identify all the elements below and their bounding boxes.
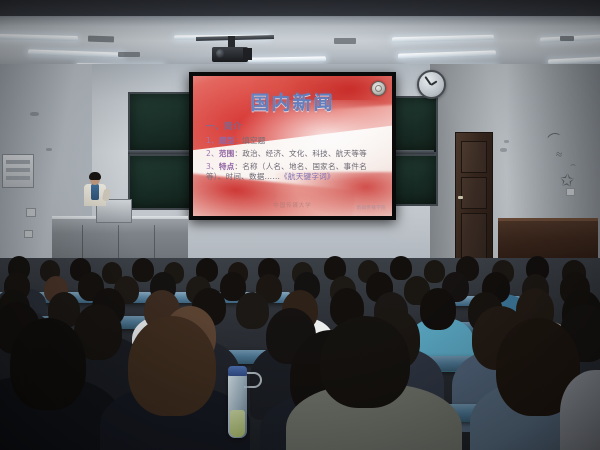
- ceiling-light-tube: [0, 34, 78, 41]
- wall-socket[interactable]: [26, 208, 36, 217]
- slide-content: 国内新闻 一、简介 1、题型：填空题 2、范围：政治、经济、文化、科技、航天等等…: [193, 76, 392, 216]
- ceiling-light-tube: [28, 49, 124, 57]
- screen-sheen: [193, 76, 392, 216]
- ceiling-vent: [118, 52, 140, 57]
- audience-head: [10, 318, 86, 410]
- ceiling-vent: [88, 36, 114, 43]
- side-door[interactable]: [455, 132, 493, 266]
- audience-head: [320, 316, 410, 408]
- wall-scuff: [30, 112, 39, 116]
- audience-head: [128, 316, 216, 416]
- wall-socket[interactable]: [24, 230, 33, 238]
- ceiling-light-tube: [398, 50, 496, 58]
- presenter-hair: [89, 172, 101, 180]
- bottle-liquid: [230, 410, 245, 437]
- ceiling-upper-shadow: [0, 0, 600, 16]
- projector-mount-arm: [196, 35, 274, 41]
- audience-head: [420, 288, 456, 330]
- electrical-distribution-panel: [2, 154, 34, 188]
- projector-lens-icon: [216, 49, 225, 58]
- bottle-cap: [228, 366, 247, 376]
- wall-graffiti: ✩: [559, 171, 575, 189]
- door-panel: [461, 177, 487, 209]
- door-panel: [461, 213, 487, 259]
- wall-clock: [417, 70, 446, 99]
- wall-scuff: [46, 148, 52, 151]
- presenter-scarf: [91, 184, 99, 200]
- ceiling-light-tube: [392, 35, 494, 43]
- ceiling-vent: [560, 36, 574, 41]
- lecture-hall-scene: ⌒ ≈ ✩ ⌢ 国内新闻 一、简介 1、题型：填空题 2、范围：政治、经济、文: [0, 0, 600, 450]
- wall-graffiti: ⌢: [570, 160, 576, 169]
- clock-hour-hand: [430, 80, 437, 85]
- wall-scuff: [504, 140, 509, 143]
- door-panel: [461, 141, 487, 173]
- audience-head: [236, 292, 269, 329]
- ceiling-vent: [334, 38, 356, 44]
- wall-graffiti: ⌒: [547, 132, 563, 148]
- audience-head: [390, 256, 412, 280]
- door-knob[interactable]: [458, 196, 463, 199]
- clock-minute-hand: [424, 76, 431, 85]
- audience-head: [424, 260, 445, 283]
- projection-screen: 国内新闻 一、简介 1、题型：填空题 2、范围：政治、经济、文化、科技、航天等等…: [189, 72, 396, 220]
- wall-socket[interactable]: [566, 188, 575, 196]
- projector-cable-box: [243, 48, 252, 60]
- wall-scuff: [500, 148, 507, 152]
- ceiling-light-tube: [248, 56, 326, 62]
